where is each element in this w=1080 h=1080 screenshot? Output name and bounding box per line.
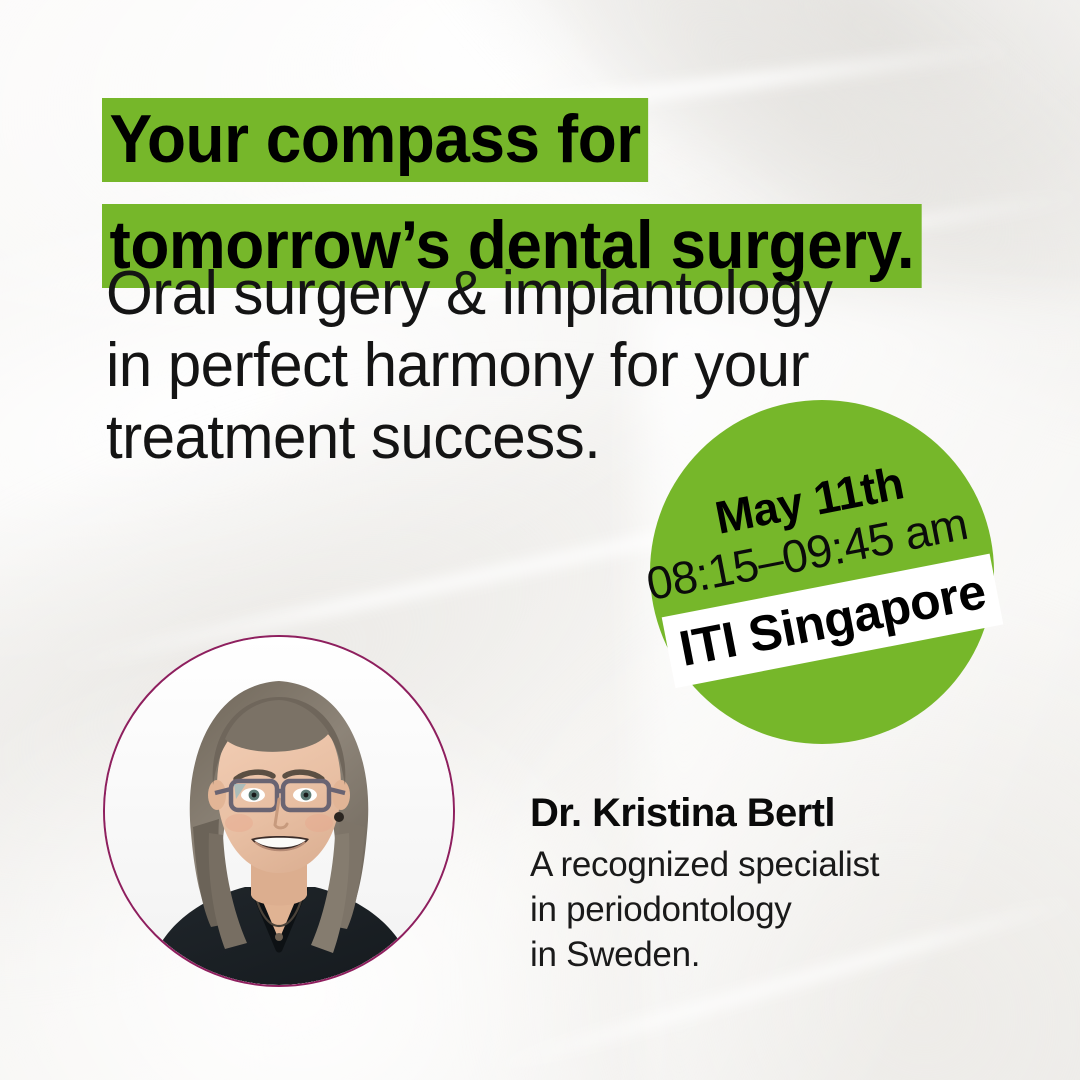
speaker-photo [105,637,453,985]
subhead-line-2: in perfect harmony for your [106,330,832,402]
speaker-bio-line-3: in Sweden. [530,932,879,977]
headline-line-1: Your compass for [102,98,648,182]
speaker-bio-line-2: in periodontology [530,887,879,932]
event-details: May 11th 08:15–09:45 am ITI Singapore [620,370,1023,773]
speaker-info: Dr. Kristina Bertl A recognized speciali… [530,789,879,977]
speaker-name: Dr. Kristina Bertl [530,789,879,837]
subhead-line-1: Oral surgery & implantology [106,258,832,330]
speaker-bio: A recognized specialist in periodontolog… [530,842,879,977]
promo-poster: Your compass for tomorrow’s dental surge… [0,0,1080,1080]
speaker-bio-line-1: A recognized specialist [530,842,879,887]
speaker-portrait [103,635,455,987]
